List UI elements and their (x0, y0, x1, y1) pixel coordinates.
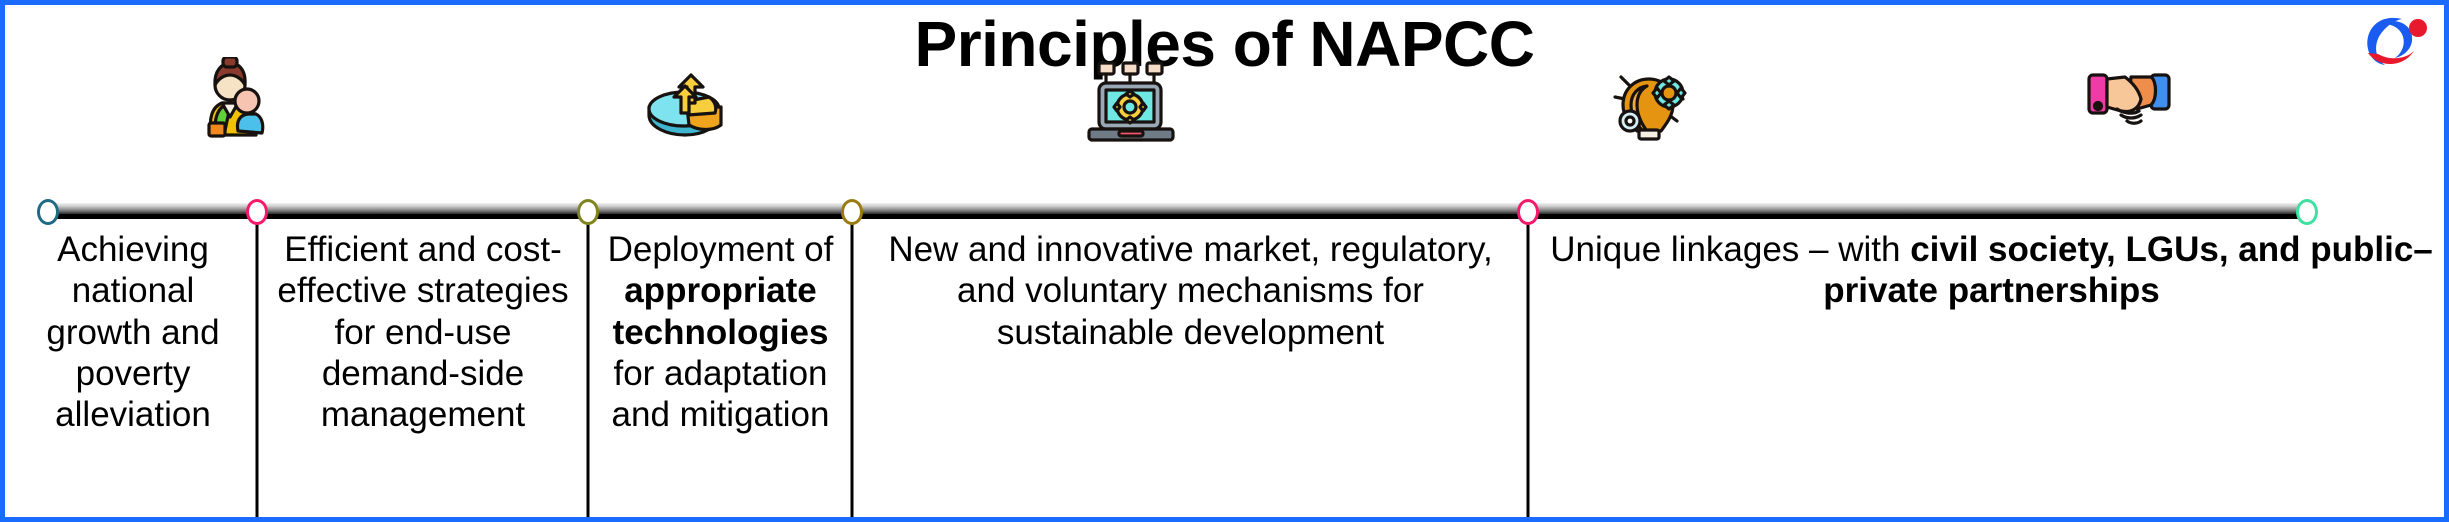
divider-1 (256, 221, 259, 521)
principle-text-1: Achieving national growth and poverty al… (15, 229, 251, 435)
handshake-partnership-icon (2087, 65, 2171, 136)
divider-2 (587, 221, 590, 521)
laptop-gear-technology-icon (1085, 61, 1177, 148)
timeline-marker-4[interactable] (841, 199, 863, 225)
page-title: Principles of NAPCC (5, 11, 2444, 78)
divider-3 (851, 221, 854, 521)
slide-principles-of-napcc: Principles of NAPCC (0, 0, 2449, 522)
pie-chart-growth-icon (641, 63, 729, 148)
lightbulb-gears-innovation-icon (1607, 59, 1691, 150)
principle-text-3: Deployment of appropriate technologies f… (594, 229, 847, 435)
brand-logo (2356, 9, 2430, 75)
principle-text-5: Unique linkages – with civil society, LG… (1534, 229, 2449, 312)
timeline-marker-1[interactable] (37, 199, 59, 225)
divider-4 (1527, 221, 1530, 521)
timeline-marker-6[interactable] (2296, 199, 2318, 225)
timeline-track (48, 203, 2307, 219)
mother-and-child-icon (186, 57, 272, 146)
brand-logo-icon (2356, 9, 2430, 75)
principle-text-4: New and innovative market, regulatory, a… (858, 229, 1523, 353)
principle-text-2: Efficient and cost-effective strategies … (263, 229, 583, 435)
timeline-marker-5[interactable] (1517, 199, 1539, 225)
timeline-marker-3[interactable] (577, 199, 599, 225)
timeline-marker-2[interactable] (246, 199, 268, 225)
